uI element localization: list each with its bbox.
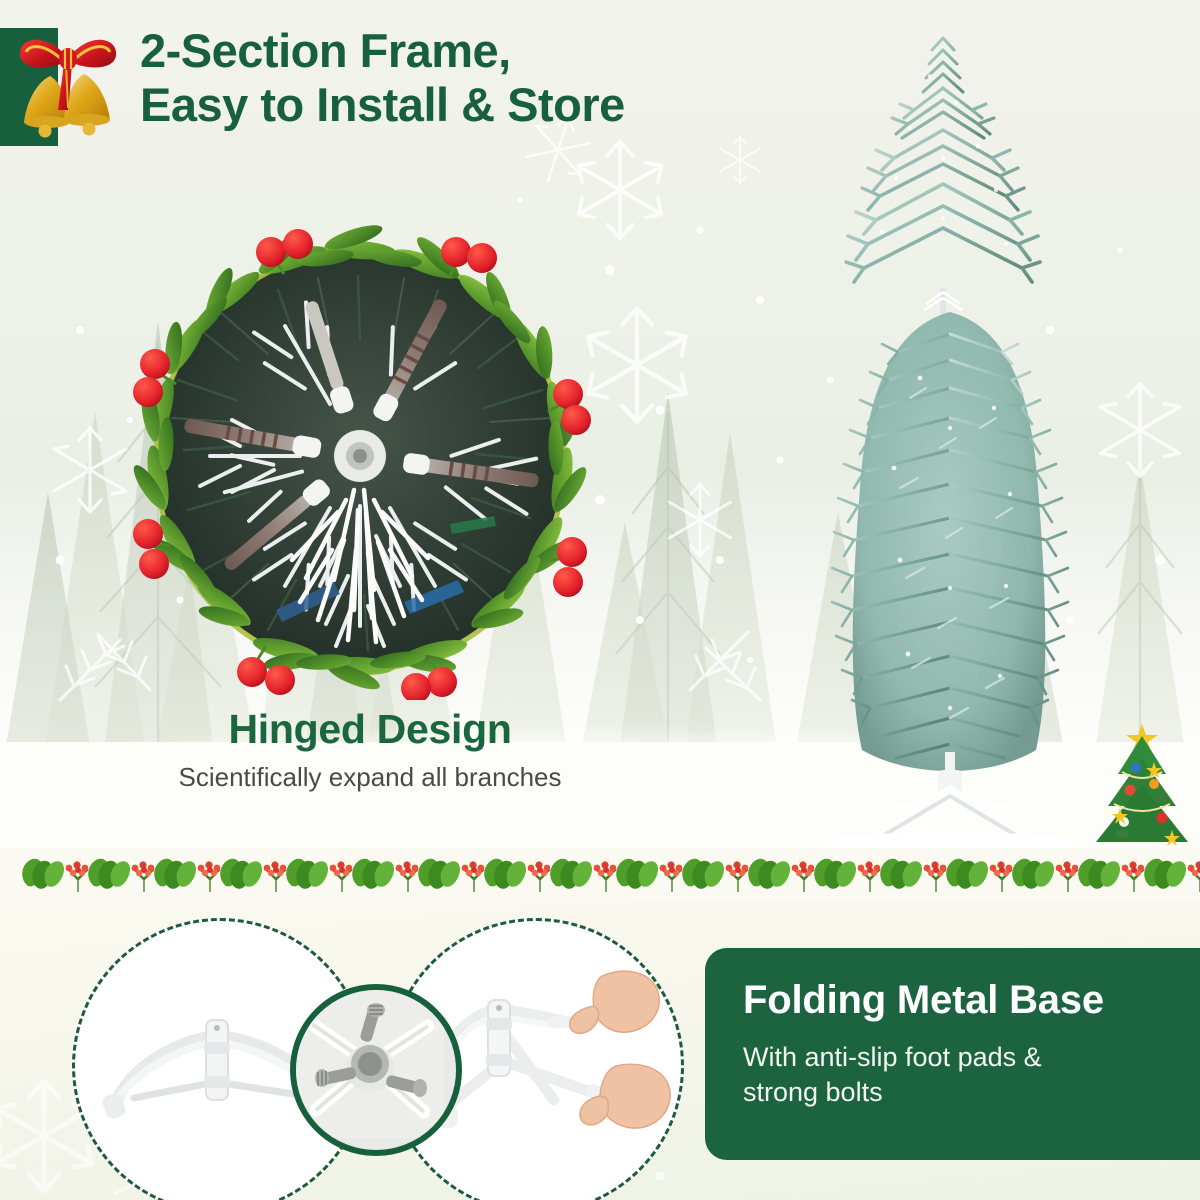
page-title: 2-Section Frame, Easy to Install & Store	[140, 24, 900, 131]
flocked-tree-bottom-section	[800, 288, 1090, 848]
hinged-design-title: Hinged Design	[0, 706, 740, 753]
hinged-design-subtitle: Scientifically expand all branches	[0, 762, 740, 793]
hinged-design-wreath	[120, 222, 600, 700]
bottom-feature-section: Folding Metal Base With anti-slip foot p…	[0, 900, 1200, 1200]
holly-wreath-frame	[120, 222, 600, 700]
folding-base-info-panel: Folding Metal Base With anti-slip foot p…	[705, 948, 1200, 1160]
cartoon-decorated-christmas-tree-with-gifts	[1058, 718, 1200, 862]
top-feature-section: 2-Section Frame, Easy to Install & Store	[0, 0, 1200, 862]
flocked-tree-top-section	[838, 18, 1048, 318]
folding-base-subtitle: With anti-slip foot pads & strong bolts	[743, 1040, 1163, 1110]
christmas-bells-bow-icon	[8, 18, 128, 146]
folding-base-title: Folding Metal Base	[743, 978, 1104, 1023]
center-bolt-hub-closeup	[290, 984, 462, 1156]
wreath-berries	[133, 229, 591, 700]
holly-divider	[0, 848, 1200, 900]
product-feature-infographic: 2-Section Frame, Easy to Install & Store	[0, 0, 1200, 1200]
